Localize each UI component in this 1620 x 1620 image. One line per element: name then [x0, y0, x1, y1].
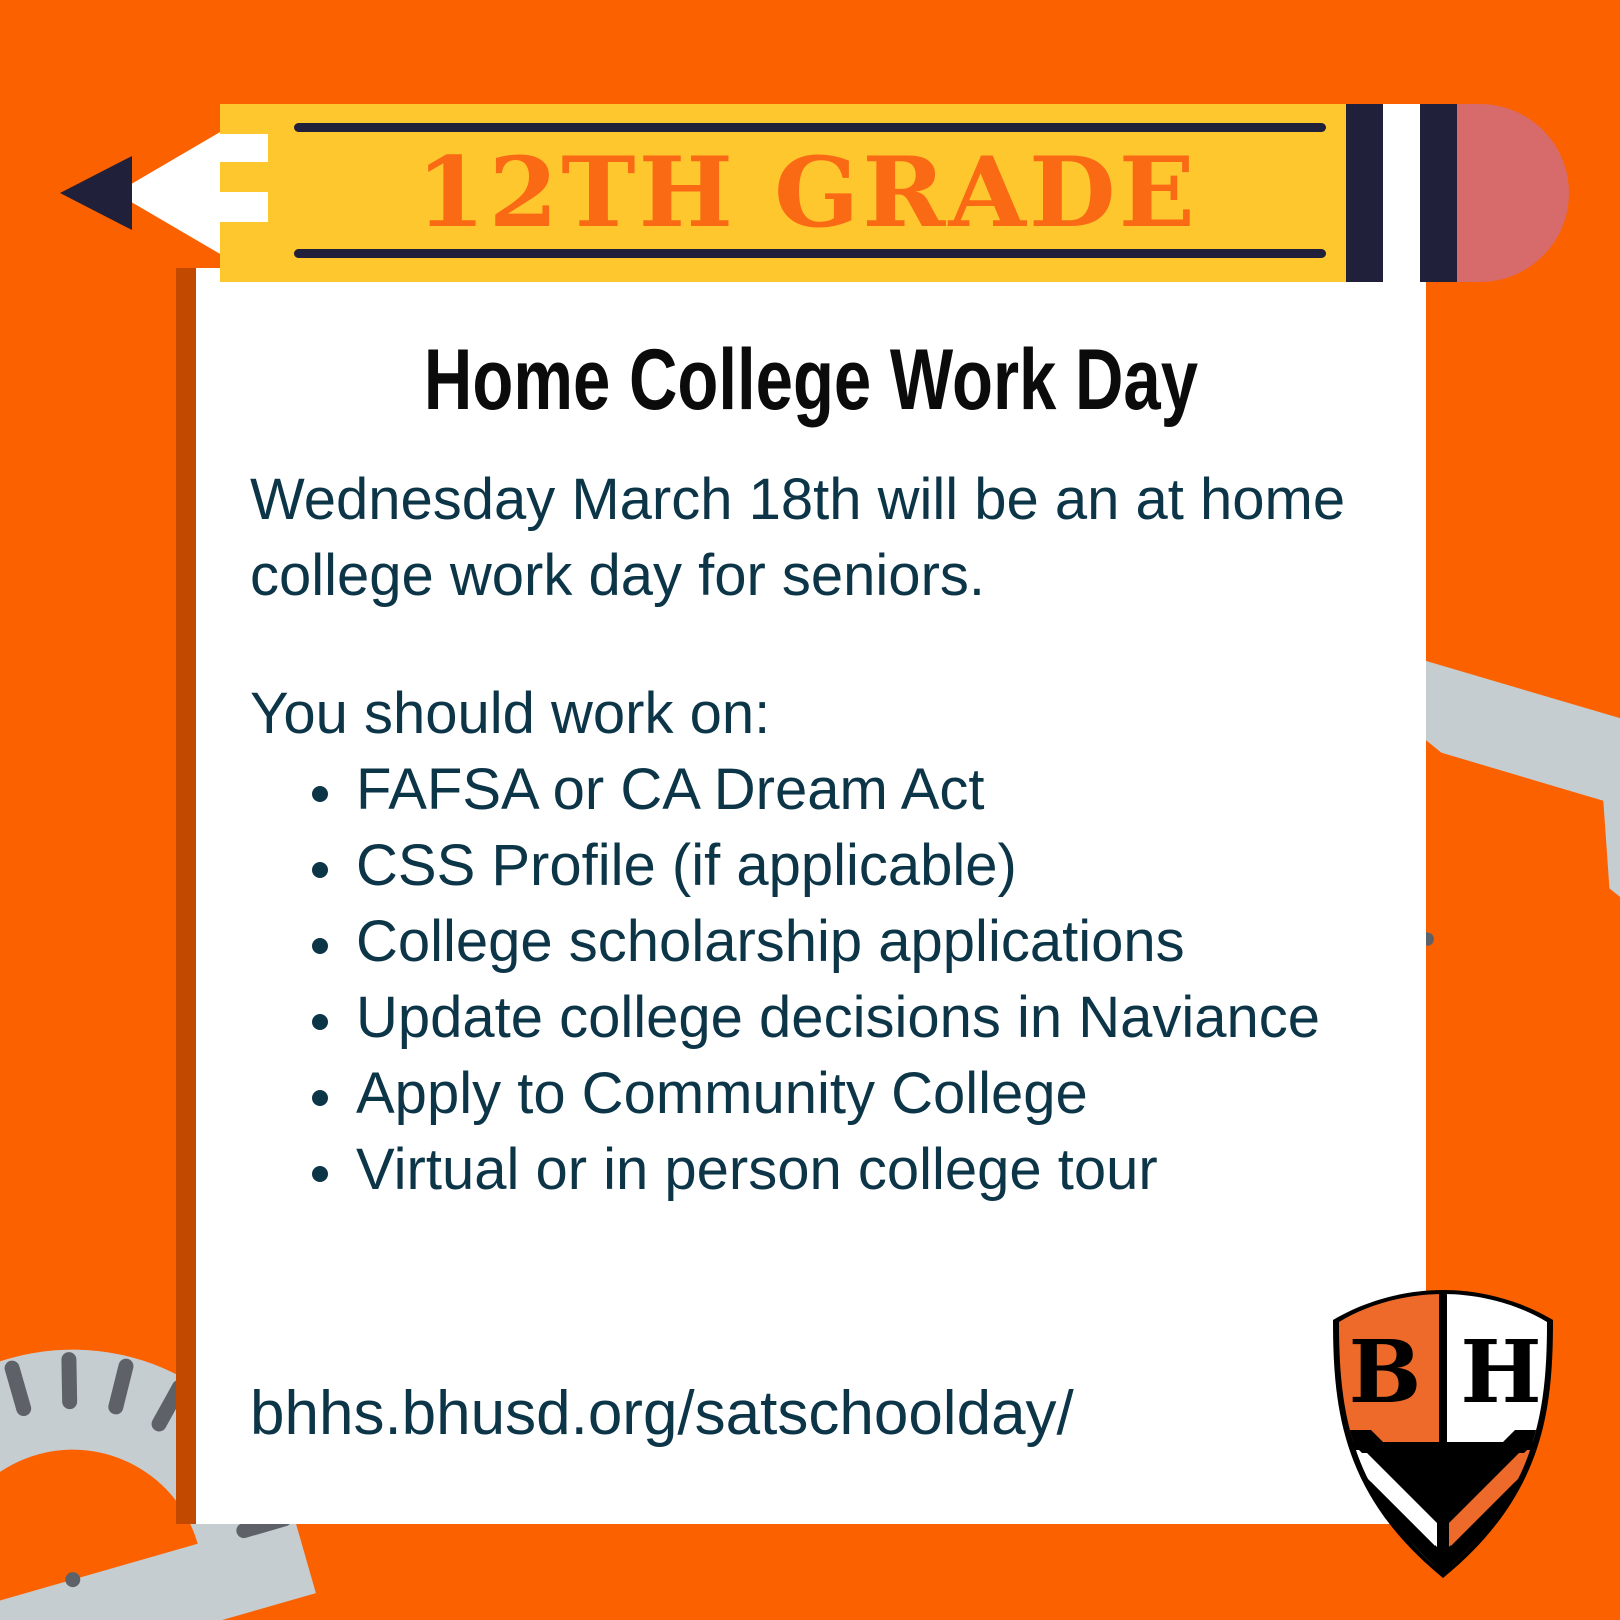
list-item: CSS Profile (if applicable): [308, 828, 1360, 904]
pencil-notch: [220, 104, 268, 134]
work-list-lead: You should work on:: [250, 676, 1360, 752]
pencil-ferrule-band: [1420, 104, 1457, 282]
shield-letter-h: H: [1460, 1322, 1541, 1423]
list-item: College scholarship applications: [308, 904, 1360, 980]
work-list: FAFSA or CA Dream Act CSS Profile (if ap…: [250, 752, 1360, 1208]
shield-letter-b: B: [1349, 1322, 1422, 1423]
intro-paragraph: Wednesday March 18th will be an at home …: [250, 462, 1360, 614]
bh-shield-logo: B H: [1327, 1290, 1559, 1578]
pencil-graphite-tip-icon: [60, 156, 132, 230]
body-content: Wednesday March 18th will be an at home …: [250, 462, 1360, 1208]
pencil-ferrule-band: [1346, 104, 1383, 282]
paragraph-spacer: [250, 614, 1360, 676]
pencil-rule-line-bottom: [294, 249, 1326, 258]
grade-banner-label: 12TH GRADE: [246, 138, 1367, 248]
page-title: Home College Work Day: [331, 330, 1290, 430]
website-url[interactable]: bhhs.bhusd.org/satschoolday/: [250, 1378, 1074, 1450]
list-item: Virtual or in person college tour: [308, 1132, 1360, 1208]
list-item: FAFSA or CA Dream Act: [308, 752, 1360, 828]
pencil-banner: 12TH GRADE: [60, 104, 1500, 282]
list-item: Apply to Community College: [308, 1056, 1360, 1132]
poster-canvas: 12TH GRADE Home College Work Day Wednesd…: [0, 0, 1620, 1620]
pencil-ferrule-stripe: [1383, 104, 1420, 282]
pencil-rule-line-top: [294, 123, 1326, 132]
pencil-body: 12TH GRADE: [268, 104, 1346, 282]
list-item: Update college decisions in Naviance: [308, 980, 1360, 1056]
